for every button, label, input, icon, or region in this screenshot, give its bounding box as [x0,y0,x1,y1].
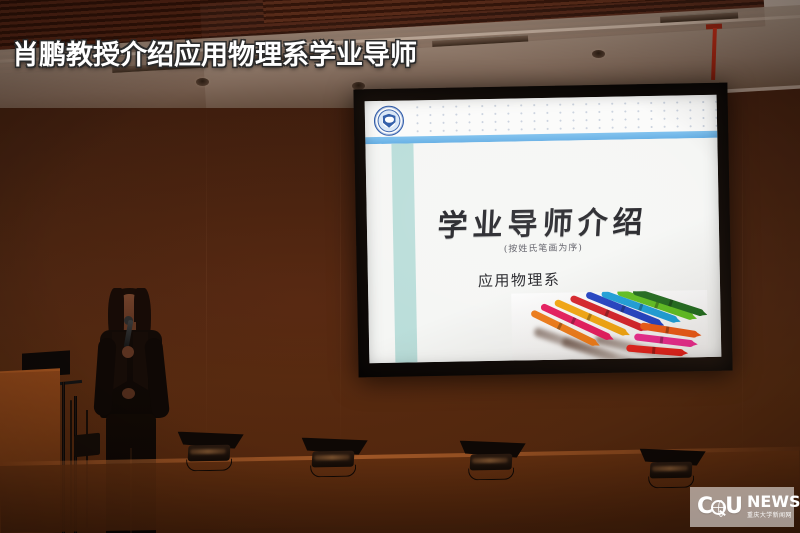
watermark-brand: C U [697,496,742,518]
presentation-slide: 学业导师介绍 (按姓氏笔画为序) 应用物理系 [365,95,722,363]
floodlight [640,447,707,490]
watermark-chinese: 重庆大学新闻网 [747,512,800,520]
globe-icon [711,500,726,515]
crayons-image [511,290,709,363]
floodlight-glow [472,458,508,464]
recessed-downlight [592,50,605,58]
floodlight-yoke [648,476,694,489]
slide-department: 应用物理系 [478,269,561,292]
caption-text: 肖鹏教授介绍应用物理系学业导师 [12,33,417,72]
floodlight [178,430,245,473]
floodlight [302,436,369,479]
wall-seam [206,90,207,460]
recessed-downlight [196,78,209,86]
projection-screen: 学业导师介绍 (按姓氏笔画为序) 应用物理系 [353,83,732,378]
floodlight [460,439,527,482]
slide-dot-pattern [411,98,717,134]
watermark-u: U [725,496,742,518]
photo-screenshot: 学业导师介绍 (按姓氏笔画为序) 应用物理系 [0,0,800,533]
floodlight-glow [190,449,226,455]
floodlight-glow [652,466,688,472]
watermark-text-group: NEWS 重庆大学新闻网 [747,494,800,520]
slide-body: 学业导师介绍 (按姓氏笔画为序) 应用物理系 [365,138,721,363]
watermark-c: C [697,496,712,518]
floodlight-yoke [310,465,356,478]
wall-seam [742,90,743,460]
speaker-hand [122,388,135,399]
floodlight-yoke [186,459,232,472]
speaker-hand [122,346,134,358]
watermark-suffix: NEWS [747,494,800,510]
watermark: C U NEWS 重庆大学新闻网 [690,487,794,527]
floodlight-glow [314,455,350,461]
screen-frame: 学业导师介绍 (按姓氏笔画为序) 应用物理系 [353,83,732,378]
wall-seam [340,90,341,460]
floodlight-yoke [468,468,514,481]
